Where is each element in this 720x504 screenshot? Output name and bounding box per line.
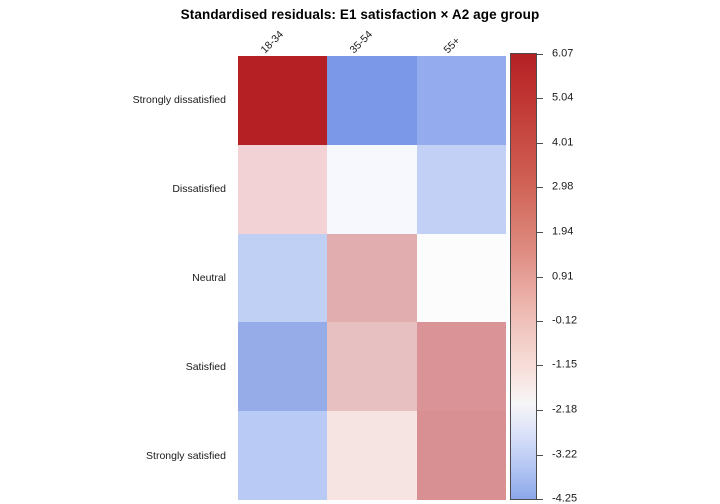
heatmap-cell [238,234,327,323]
colorbar: 6.075.044.012.981.940.91-0.12-1.15-2.18-… [510,53,710,503]
heatmap-cell [327,411,416,500]
colorbar-tick-mark [537,499,543,500]
colorbar-tick-label: 1.94 [552,226,573,237]
heatmap-cell [417,322,506,411]
heatmap-cell [238,145,327,234]
column-label-0: 18-34 [259,29,286,56]
colorbar-tick-mark [537,321,543,322]
heatmap-cell [238,56,327,145]
colorbar-tick-label: 6.07 [552,48,573,59]
heatmap-grid [238,56,506,500]
colorbar-tick-mark [537,277,543,278]
column-axis-labels: 18-34 35-54 55+ [238,18,506,56]
row-label-4: Strongly satisfied [100,411,232,500]
colorbar-tick-label: -2.18 [552,404,577,415]
row-axis-labels: Strongly dissatisfied Dissatisfied Neutr… [100,56,232,500]
heatmap-cell [417,411,506,500]
column-label-1: 35-54 [348,29,375,56]
row-label-1: Dissatisfied [100,145,232,234]
colorbar-tick-label: -4.25 [552,493,577,504]
colorbar-tick-mark [537,410,543,411]
colorbar-tick-mark [537,455,543,456]
colorbar-gradient [510,53,537,500]
heatmap-cell [417,234,506,323]
heatmap-plot: Standardised residuals: E1 satisfaction … [0,0,720,504]
heatmap-cell [327,56,416,145]
colorbar-tick-mark [537,232,543,233]
colorbar-tick-mark [537,365,543,366]
heatmap-cell [238,322,327,411]
row-label-2: Neutral [100,234,232,323]
colorbar-tick-mark [537,54,543,55]
heatmap-cell [238,411,327,500]
colorbar-tick-label: -3.22 [552,449,577,460]
colorbar-tick-label: -1.15 [552,359,577,370]
column-label-2: 55+ [442,35,463,56]
colorbar-tick-label: 2.98 [552,181,573,192]
colorbar-tick-label: 5.04 [552,92,573,103]
colorbar-tick-mark [537,98,543,99]
row-label-0: Strongly dissatisfied [100,56,232,145]
colorbar-ticks: 6.075.044.012.981.940.91-0.12-1.15-2.18-… [537,53,707,500]
colorbar-tick-label: 4.01 [552,137,573,148]
row-label-3: Satisfied [100,322,232,411]
heatmap-cell [327,145,416,234]
colorbar-tick-label: -0.12 [552,315,577,326]
heatmap-cell [417,145,506,234]
heatmap-cell [327,234,416,323]
heatmap-cell [327,322,416,411]
colorbar-tick-mark [537,187,543,188]
colorbar-tick-mark [537,143,543,144]
heatmap-cell [417,56,506,145]
colorbar-tick-label: 0.91 [552,271,573,282]
